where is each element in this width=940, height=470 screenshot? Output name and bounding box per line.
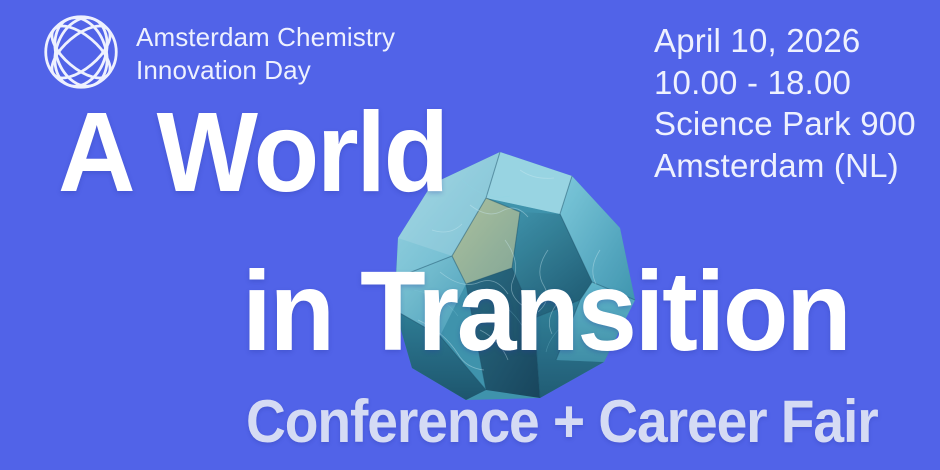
brand-lockup: Amsterdam Chemistry Innovation Day (40, 10, 395, 93)
event-city: Amsterdam (NL) (654, 145, 916, 187)
event-subtitle: Conference + Career Fair (246, 392, 878, 452)
event-date: April 10, 2026 (654, 20, 916, 62)
headline-line-1: A World (58, 96, 447, 209)
event-details: April 10, 2026 10.00 - 18.00 Science Par… (654, 20, 916, 187)
brand-name: Amsterdam Chemistry Innovation Day (136, 21, 395, 87)
headline-line-2: in Transition (242, 255, 849, 368)
brand-name-line-1: Amsterdam Chemistry (136, 21, 395, 54)
interlaced-globe-logo-icon (40, 11, 122, 93)
event-time: 10.00 - 18.00 (654, 62, 916, 104)
event-venue: Science Park 900 (654, 103, 916, 145)
event-banner: Amsterdam Chemistry Innovation Day April… (0, 0, 940, 470)
brand-name-line-2: Innovation Day (136, 54, 395, 87)
